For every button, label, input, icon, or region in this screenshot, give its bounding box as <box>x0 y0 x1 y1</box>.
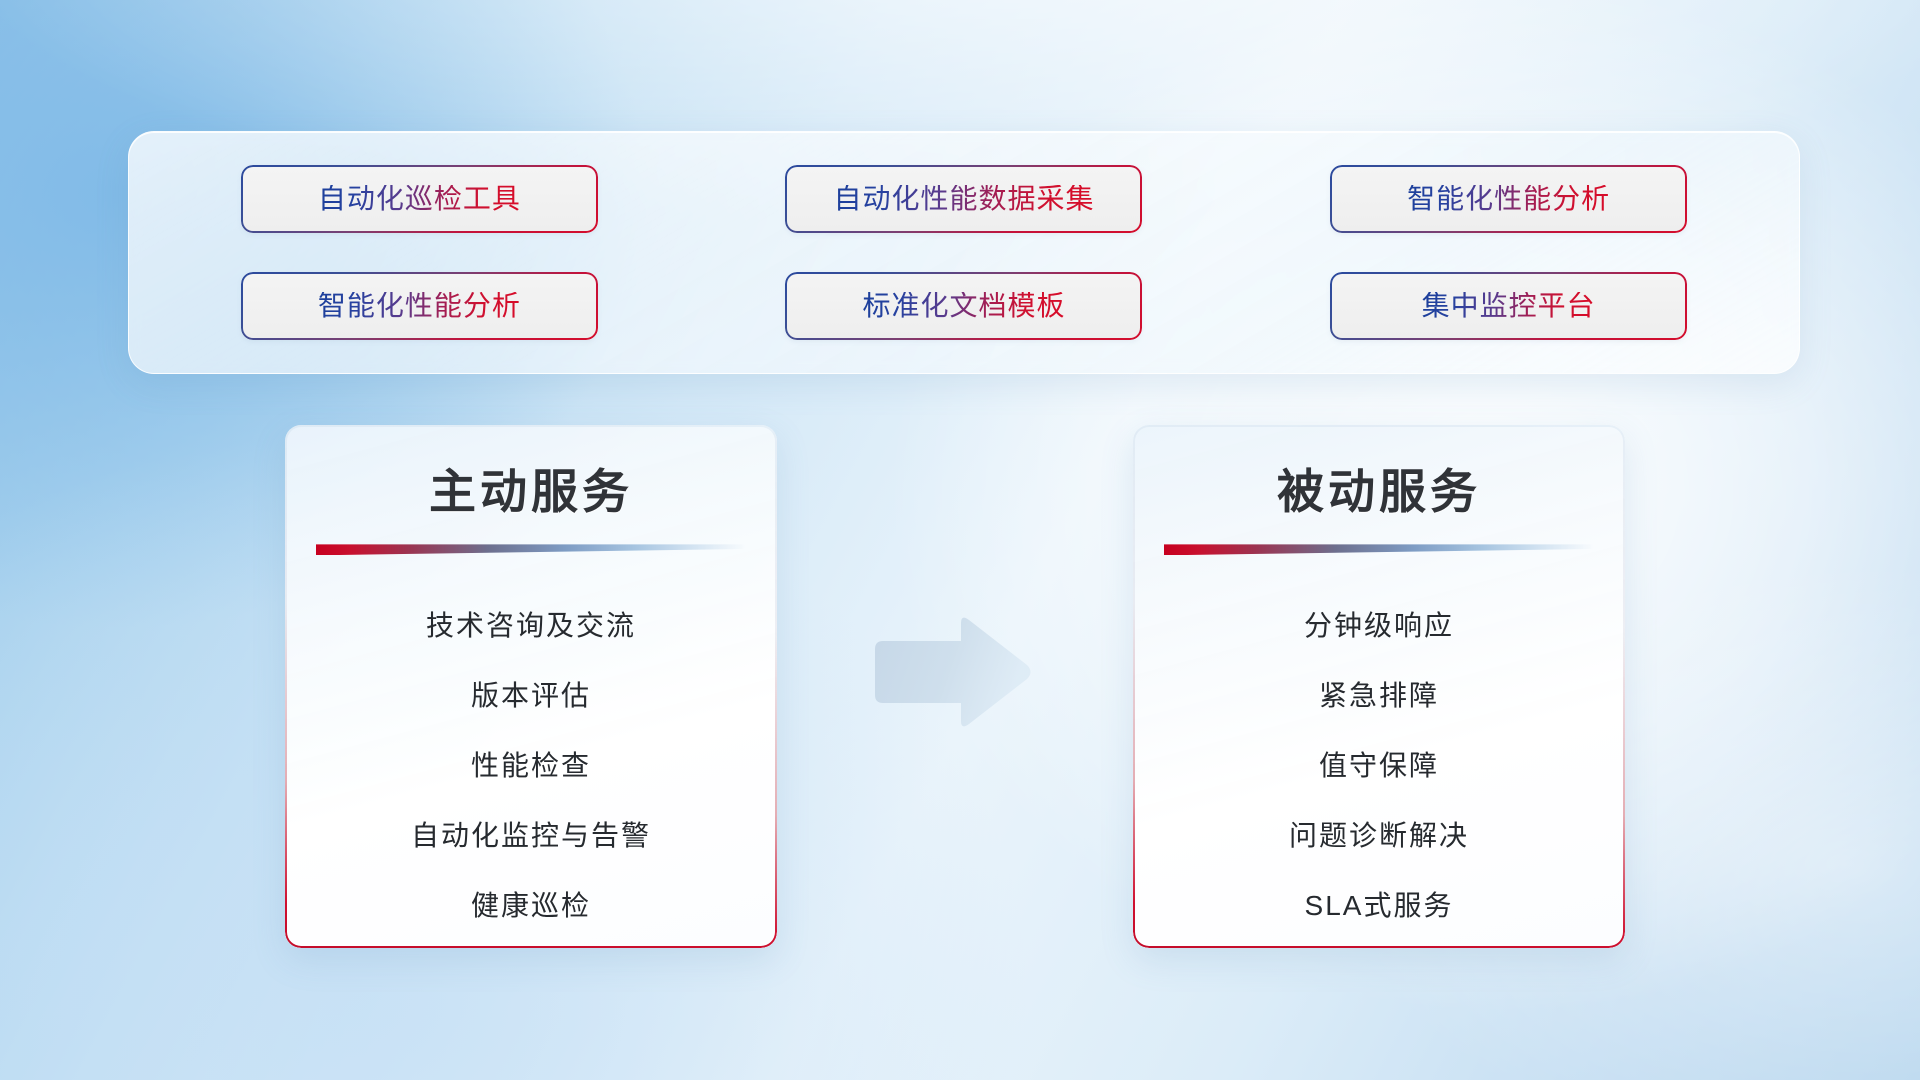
list-item: 值守保障 <box>1133 731 1625 801</box>
capability-pill-label: 智能化性能分析 <box>318 292 521 320</box>
capability-pill-automated-performance-data-collection[interactable]: 自动化性能数据采集 <box>785 165 1142 233</box>
diagram-canvas: 自动化巡检工具 自动化性能数据采集 智能化性能分析 智能化性能分析 标准化文档模… <box>0 0 1920 1080</box>
proactive-service-list: 技术咨询及交流 版本评估 性能检查 自动化监控与告警 健康巡检 <box>285 591 777 941</box>
list-item: 健康巡检 <box>285 871 777 941</box>
proactive-service-panel: 主动服务 技术咨询及交流 版本评估 性能检查 自动化监控与告警 健康巡检 <box>285 425 777 948</box>
capability-pill-intelligent-performance-analysis-bottom[interactable]: 智能化性能分析 <box>241 272 598 340</box>
capability-pill-intelligent-performance-analysis-top[interactable]: 智能化性能分析 <box>1330 165 1687 233</box>
list-item: 分钟级响应 <box>1133 591 1625 661</box>
reactive-service-panel: 被动服务 分钟级响应 紧急排障 值守保障 问题诊断解决 SLA式服务 <box>1133 425 1625 948</box>
capability-card: 自动化巡检工具 自动化性能数据采集 智能化性能分析 智能化性能分析 标准化文档模… <box>128 131 1800 374</box>
proactive-panel-divider <box>316 544 746 555</box>
capability-pill-standardized-document-template[interactable]: 标准化文档模板 <box>785 272 1142 340</box>
reactive-panel-divider <box>1164 544 1594 555</box>
list-item: 版本评估 <box>285 661 777 731</box>
list-item: 自动化监控与告警 <box>285 801 777 871</box>
capability-pill-label: 集中监控平台 <box>1422 292 1596 320</box>
capability-pill-label: 标准化文档模板 <box>862 292 1065 320</box>
capability-pill-label: 智能化性能分析 <box>1407 185 1610 213</box>
capability-pill-label: 自动化性能数据采集 <box>833 185 1094 213</box>
proactive-panel-title: 主动服务 <box>285 467 777 516</box>
list-item: SLA式服务 <box>1133 871 1625 941</box>
arrow-right-icon <box>869 613 1034 733</box>
reactive-panel-title: 被动服务 <box>1133 467 1625 516</box>
list-item: 问题诊断解决 <box>1133 801 1625 871</box>
capability-pill-centralized-monitoring-platform[interactable]: 集中监控平台 <box>1330 272 1687 340</box>
list-item: 性能检查 <box>285 731 777 801</box>
capability-pill-automated-inspection-tool[interactable]: 自动化巡检工具 <box>241 165 598 233</box>
reactive-service-list: 分钟级响应 紧急排障 值守保障 问题诊断解决 SLA式服务 <box>1133 591 1625 941</box>
capability-pill-label: 自动化巡检工具 <box>318 185 521 213</box>
list-item: 技术咨询及交流 <box>285 591 777 661</box>
list-item: 紧急排障 <box>1133 661 1625 731</box>
